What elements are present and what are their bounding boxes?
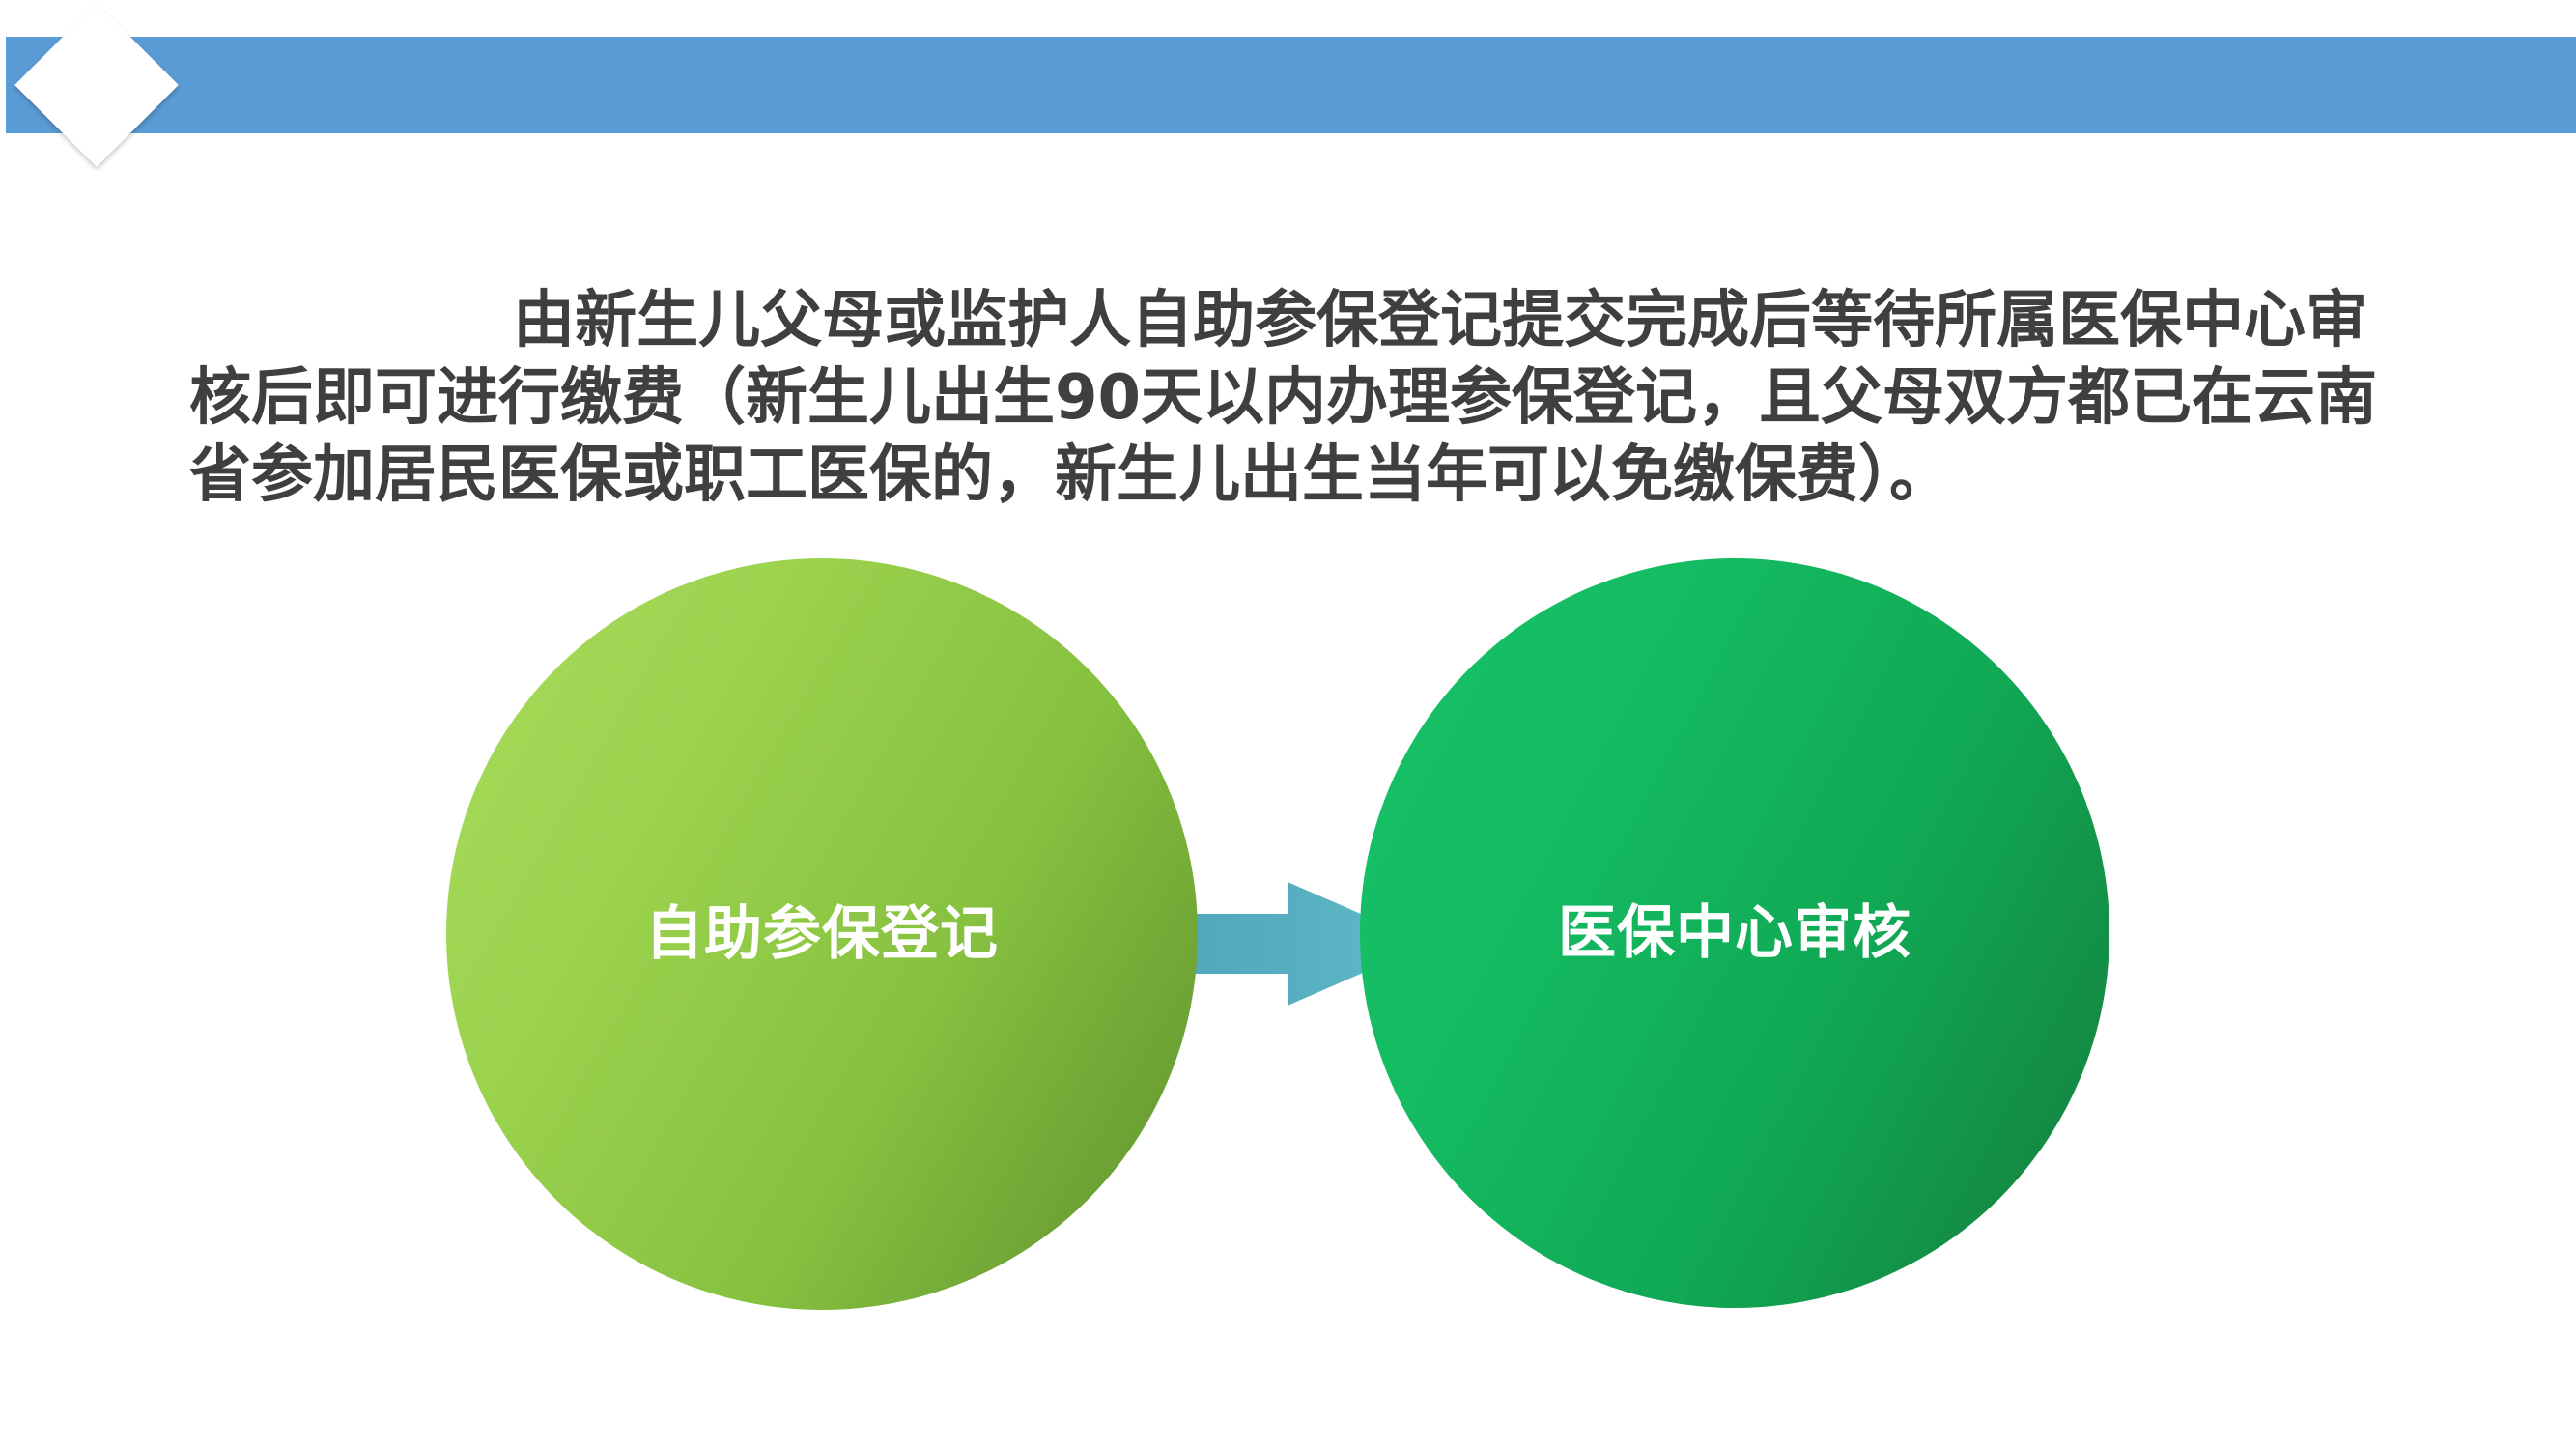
process-flow-diagram: 自助参保登记 医保中心审核 [0, 0, 2576, 1449]
node-label-insurance-center-review: 医保中心审核 [1558, 904, 1911, 962]
node-self-registration[interactable]: 自助参保登记 [446, 558, 1198, 1310]
node-label-self-registration: 自助参保登记 [645, 905, 999, 963]
node-insurance-center-review[interactable]: 医保中心审核 [1360, 558, 2109, 1308]
slide-canvas: 由新生儿父母或监护人自助参保登记提交完成后等待所属医保中心审核后即可进行缴费（新… [0, 0, 2576, 1449]
